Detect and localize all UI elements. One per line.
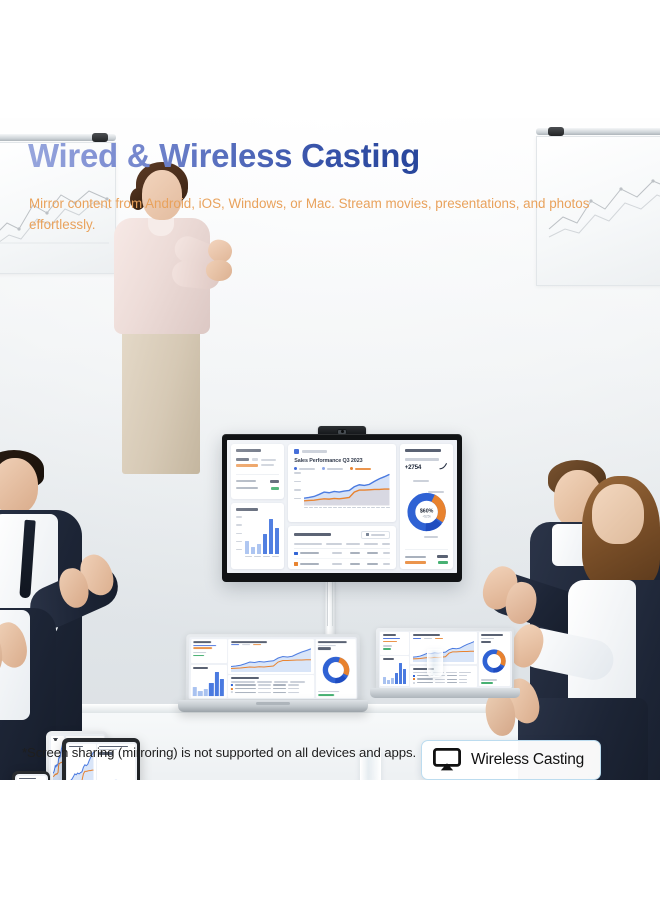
dashboard-right-column: +2754: [400, 444, 453, 569]
row-color-swatch: [294, 552, 297, 555]
x-tick-3: [314, 507, 318, 508]
cell-product: [332, 552, 342, 554]
metric-label-1: [236, 480, 256, 483]
sparkline-icon: [439, 458, 448, 474]
bar-5: [269, 519, 273, 554]
x-tick-12: [357, 507, 361, 508]
x-tick-15: [371, 507, 375, 508]
mini-dashboard: [379, 631, 512, 688]
whiteboard-clip-right: [548, 127, 564, 136]
mini-table-row: [413, 682, 474, 684]
x-tick-13: [362, 507, 366, 508]
x-tick-9: [343, 507, 347, 508]
app-logo-icon: [294, 449, 299, 454]
x-tick-8: [338, 507, 342, 508]
footnote-text: *Screen sharing (mirroring) is not suppo…: [22, 745, 416, 760]
laptop-secondary-screen: [379, 631, 512, 688]
card-title-market-share: [236, 449, 261, 452]
x-tick-14: [367, 507, 371, 508]
donut-center-sub: +$25k: [422, 515, 431, 519]
laptop-primary-lid: [186, 634, 361, 702]
donut-chart-wrap: $60% +$25k: [405, 478, 448, 546]
y-tick-0: [236, 549, 242, 551]
metric-label-2: [236, 487, 258, 489]
y-tick-1: [236, 541, 242, 543]
line-chart: [304, 472, 389, 506]
x-tick-5: [323, 507, 327, 508]
x-tick-10: [347, 507, 351, 508]
laptop-secondary-lid: [376, 628, 514, 690]
table-row[interactable]: [294, 549, 389, 560]
bar-1: [245, 541, 249, 554]
dashboard-laptop-secondary: [379, 631, 512, 688]
line-chart-x-axis: [304, 507, 389, 508]
card-title-bar-chart: [236, 508, 258, 511]
legend-swatch-a: [236, 458, 249, 461]
dashboard-laptop-primary: [189, 637, 358, 699]
card-market-share-summary: [231, 444, 284, 499]
x-label-2: [254, 556, 261, 558]
table-body: [294, 549, 389, 570]
mini-table-row: [231, 684, 311, 686]
x-tick-17: [381, 507, 385, 508]
table-row[interactable]: [294, 559, 389, 569]
mini-donut-chart: [321, 655, 351, 685]
x-tick-18: [386, 507, 390, 508]
mini-table-row: [413, 675, 474, 677]
cell-name: [300, 563, 319, 565]
legend-label-b: [261, 464, 274, 466]
bar-2: [251, 547, 255, 554]
metric-value-2: [271, 487, 280, 490]
card-customer-demographics: +2754: [400, 444, 453, 569]
laptop-primary-base: [178, 700, 368, 712]
donut-label-bottom: [424, 536, 438, 538]
cell-percent: [383, 552, 389, 554]
smartphone-screen: [15, 774, 48, 781]
mini-line-chart: [231, 647, 311, 672]
footer-label-1: [405, 556, 426, 558]
legend-label-a: [261, 459, 276, 461]
attendee-left-front-head: [0, 458, 38, 514]
mini-table-row: [231, 688, 311, 690]
laptop-secondary[interactable]: [370, 628, 520, 712]
x-tick-1: [304, 507, 308, 508]
footer-value-2: [438, 561, 448, 564]
x-label-1: [245, 556, 252, 558]
chart-title: Sales Performance Q3 2023: [294, 458, 389, 464]
x-tick-6: [328, 507, 332, 508]
tv-bezel: Sales Performance Q3 2023: [222, 434, 462, 582]
x-tick-4: [319, 507, 323, 508]
download-icon: [366, 533, 369, 536]
cell-name: [300, 552, 319, 554]
cell-quantity: [350, 552, 360, 554]
promo-image: Sales Performance Q3 2023: [0, 0, 660, 900]
tv-display[interactable]: Sales Performance Q3 2023: [222, 434, 462, 582]
page-title: Wired & Wireless Casting: [28, 139, 420, 174]
x-label-4: [272, 556, 279, 558]
kpi-value: +2754: [405, 464, 439, 471]
mini-donut-chart: [99, 778, 133, 780]
dashboard-left-column: [231, 444, 284, 569]
airplay-icon: [433, 748, 461, 772]
cell-product: [332, 563, 342, 565]
y-tick-2: [236, 533, 242, 535]
dashboard-phone: [15, 774, 48, 781]
row-color-swatch: [294, 562, 297, 565]
laptop-primary[interactable]: [178, 634, 368, 726]
bar-4: [263, 534, 267, 553]
dashboard-center-column: Sales Performance Q3 2023: [288, 444, 395, 569]
card-sales-performance: Sales Performance Q3 2023: [288, 444, 395, 522]
page-subtitle: Mirror content from Android, iOS, Window…: [29, 194, 639, 236]
x-tick-7: [333, 507, 337, 508]
smartphone[interactable]: [12, 771, 50, 780]
mini-donut-chart: [481, 646, 507, 676]
x-tick-2: [309, 507, 313, 508]
cell-quantity: [350, 563, 360, 565]
export-button[interactable]: [361, 531, 390, 539]
bar-chart-bars: [245, 516, 279, 553]
dashboard-tv: Sales Performance Q3 2023: [227, 440, 457, 573]
mini-bar-chart: [193, 671, 225, 696]
laptop-primary-screen: [189, 637, 358, 699]
mini-dashboard: [189, 637, 358, 699]
water-glass-right: [427, 649, 443, 677]
mini-table-row: [231, 691, 311, 693]
cell-percent: [383, 563, 389, 565]
kpi-label: [405, 458, 439, 460]
x-label-3: [263, 556, 270, 558]
table-title: [294, 533, 330, 536]
y-tick-3: [236, 524, 242, 526]
tablet-camera-icon: [54, 738, 57, 741]
x-tick-11: [352, 507, 356, 508]
footer-label-2: [405, 561, 427, 563]
laptop-secondary-base: [370, 688, 520, 698]
footer-value-1: [437, 555, 448, 558]
cell-revenue: [367, 563, 378, 565]
bar-3: [257, 544, 261, 554]
chart-legend: [294, 467, 389, 470]
badge-wireless-label: Wireless Casting: [471, 751, 584, 769]
app-breadcrumb: [302, 450, 327, 452]
metric-value-1: [270, 480, 280, 483]
card-title-demographics: [405, 449, 441, 452]
tv-screen[interactable]: Sales Performance Q3 2023: [227, 440, 457, 573]
donut-label-top: [413, 480, 429, 482]
card-market-share-bars: [231, 503, 284, 569]
mini-line-chart: [413, 640, 474, 662]
mini-dashboard: [15, 774, 48, 781]
badge-wireless-casting[interactable]: Wireless Casting: [421, 740, 601, 780]
donut-chart: $60% +$25k: [405, 490, 448, 534]
x-tick-16: [376, 507, 380, 508]
attendee-right-woman-head: [592, 484, 644, 544]
legend-swatch-b: [236, 464, 258, 467]
mini-bar-chart: [383, 662, 407, 684]
laptop-trackpad-notch: [256, 702, 290, 705]
mini-table-row: [413, 678, 474, 680]
cell-revenue: [367, 552, 378, 554]
card-recent-transactions: [288, 526, 395, 570]
legend-value-a: [252, 458, 258, 461]
bar-6: [275, 528, 279, 553]
y-tick-4: [236, 516, 242, 518]
presenter-skirt: [122, 322, 200, 474]
